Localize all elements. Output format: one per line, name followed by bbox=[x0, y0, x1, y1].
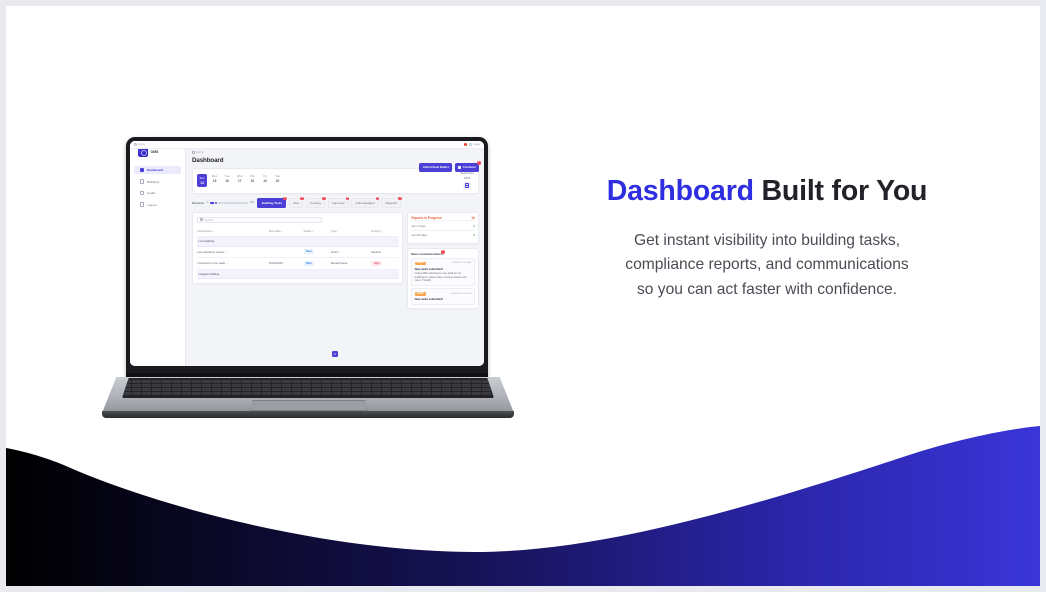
search-input[interactable]: Search bbox=[197, 217, 322, 224]
browser-back-group[interactable]: Home bbox=[134, 143, 145, 146]
chevron-down-icon[interactable]: ⌄ bbox=[394, 272, 396, 276]
day-cell-fri[interactable]: Fri 19 bbox=[260, 174, 270, 187]
group-cell: Lan building ⌃ bbox=[197, 236, 399, 246]
message-time: 09/09/2025 16:42PM bbox=[451, 293, 471, 295]
tasks-table: Description▾ Due Date▾ Status▾ Type Prio… bbox=[197, 227, 399, 279]
chevron-down-icon: ▾ bbox=[381, 230, 382, 233]
status-badge: New bbox=[304, 249, 315, 254]
bottom-wave bbox=[6, 426, 1040, 586]
sidebar-item-label: Logout bbox=[147, 203, 156, 207]
day-cell-wed[interactable]: Wed 17 bbox=[235, 174, 245, 187]
communications-panel: New communications 2 AUDIT 10/09/2025 10… bbox=[407, 248, 479, 309]
panel-title-label: New communications bbox=[411, 252, 443, 256]
pill-badge: 1 bbox=[398, 197, 402, 201]
calendar-icon bbox=[465, 183, 470, 188]
cta-label: Trashcan bbox=[463, 165, 476, 169]
pill-approved[interactable]: Approved 8 bbox=[328, 198, 349, 208]
day-cell-sat[interactable]: Sat 20 bbox=[273, 174, 283, 187]
column-label: Priority bbox=[371, 229, 380, 233]
cta-badge: 1 bbox=[477, 161, 481, 165]
day-number: 16 bbox=[222, 179, 232, 183]
priority-label: Medium bbox=[371, 250, 381, 254]
day-name: Sat bbox=[273, 174, 283, 178]
breadcrumb[interactable]: Home bbox=[192, 151, 479, 154]
subcopy-line-1: Get instant visibility into building tas… bbox=[566, 229, 968, 253]
dashboard-app: Home usage bbox=[130, 141, 484, 366]
day-name: Thu bbox=[247, 174, 257, 178]
building-icon bbox=[140, 179, 144, 183]
column-label: Status bbox=[304, 229, 312, 233]
cell-priority: High bbox=[370, 258, 398, 270]
day-number: 20 bbox=[273, 179, 283, 183]
search-icon bbox=[200, 218, 203, 221]
pill-new[interactable]: New 4 bbox=[289, 198, 304, 208]
logout-icon bbox=[140, 202, 144, 206]
pill-rejected[interactable]: Rejected 1 bbox=[381, 198, 401, 208]
chevron-up-icon[interactable]: ⌃ bbox=[394, 239, 396, 243]
message-header: AUDIT 09/09/2025 16:42PM bbox=[415, 292, 472, 296]
browser-back-label: Home bbox=[138, 143, 145, 146]
app-sidebar: OMS Dashboard Buildings bbox=[130, 141, 186, 366]
back-arrow-icon[interactable] bbox=[134, 143, 137, 146]
cell-type: Action bbox=[330, 246, 371, 258]
grid-icon bbox=[140, 168, 144, 172]
day-cell-sun[interactable]: Sun 14 bbox=[197, 174, 207, 187]
sidebar-item-label: Dashboard bbox=[147, 168, 163, 172]
pill-badge: 4 bbox=[300, 197, 304, 201]
pill-badge: 3 bbox=[322, 197, 326, 201]
trashcan-button[interactable]: Trashcan 1 bbox=[455, 163, 479, 172]
table-row[interactable]: new diagrams require ... - New Action Me… bbox=[197, 246, 399, 258]
cell-due-date: - bbox=[268, 246, 303, 258]
headline-accent: Dashboard bbox=[607, 175, 754, 207]
cell-description: comments to be made ... bbox=[197, 258, 268, 270]
reports-row-30days: next 30 days 5 bbox=[411, 230, 475, 240]
reports-row-7days: next 7 days 3 bbox=[411, 220, 475, 230]
slider-max: 365 bbox=[250, 201, 254, 204]
sidebar-item-logout[interactable]: Logout bbox=[134, 201, 181, 209]
pill-building-tasks[interactable]: Building Tasks 12 bbox=[257, 198, 286, 208]
headline-rest: Built for You bbox=[754, 175, 927, 207]
trash-icon bbox=[458, 166, 461, 170]
reports-panel: Reports in Progress 10 next 7 days 3 nex… bbox=[407, 212, 479, 244]
cell-priority: Medium bbox=[370, 246, 398, 258]
slider-handle[interactable] bbox=[214, 201, 218, 205]
day-cell-tue[interactable]: Tue 16 bbox=[222, 174, 232, 187]
table-group-row[interactable]: Lan building ⌃ bbox=[197, 236, 399, 246]
message-time: 10/09/2025 10:14AM bbox=[451, 262, 471, 264]
message-tag: AUDIT bbox=[415, 292, 426, 296]
column-type[interactable]: Type bbox=[330, 227, 371, 236]
zoom-icon bbox=[469, 143, 472, 146]
table-group-row[interactable]: craigies building ⌄ bbox=[197, 269, 399, 279]
laptop-screen: Home usage bbox=[130, 141, 484, 366]
group-label: Lan building bbox=[199, 239, 215, 243]
laptop-mockup: Home usage bbox=[102, 137, 514, 419]
laptop-foot bbox=[102, 411, 514, 418]
notification-dot-icon[interactable] bbox=[464, 143, 467, 146]
chevron-down-icon: ▾ bbox=[212, 230, 213, 233]
pill-badge: 8 bbox=[346, 197, 350, 201]
laptop-keyboard bbox=[122, 378, 494, 398]
subcopy-line-2: compliance reports, and communications bbox=[566, 253, 968, 277]
column-priority[interactable]: Priority▾ bbox=[370, 227, 398, 236]
home-icon bbox=[192, 151, 195, 154]
search-placeholder: Search bbox=[204, 218, 213, 222]
page-headline: Dashboard Built for You bbox=[566, 174, 968, 208]
year-label: 2025 bbox=[464, 177, 470, 180]
brand-name: OMS bbox=[151, 150, 159, 154]
cell-status: New bbox=[303, 246, 330, 258]
pill-acknowledged[interactable]: Acknowledged 2 bbox=[351, 198, 379, 208]
zoom-indicator[interactable]: usage bbox=[469, 143, 480, 146]
comms-badge: 2 bbox=[441, 250, 445, 254]
chevron-down-icon: ▾ bbox=[281, 230, 282, 233]
message-card[interactable]: AUDIT 09/09/2025 16:42PM New audit submi… bbox=[411, 288, 475, 304]
app-main: Home Dashboard Sun 14 Mon bbox=[186, 141, 484, 366]
day-number: 17 bbox=[235, 179, 245, 183]
services-slider[interactable]: Services 0 365 bbox=[192, 201, 254, 205]
group-label: craigies building bbox=[199, 272, 220, 276]
day-number: 19 bbox=[260, 179, 270, 183]
day-name: Tue bbox=[222, 174, 232, 178]
pill-label: New bbox=[293, 201, 299, 205]
column-label: Due Date bbox=[269, 229, 281, 233]
status-pills: Building Tasks 12 New 4 Pending 3 bbox=[257, 198, 401, 208]
day-number: 18 bbox=[247, 179, 257, 183]
reports-panel-title: Reports in Progress bbox=[411, 216, 441, 220]
row-value: 5 bbox=[473, 233, 475, 237]
cell-description: new diagrams require ... bbox=[197, 246, 268, 258]
page-button-1[interactable]: 1 bbox=[332, 351, 338, 357]
message-header: AUDIT 10/09/2025 10:14AM bbox=[415, 262, 472, 266]
pill-label: Approved bbox=[332, 201, 344, 205]
pill-pending[interactable]: Pending 3 bbox=[306, 198, 325, 208]
cell-status: New bbox=[303, 258, 330, 270]
calendar-button[interactable] bbox=[463, 182, 471, 190]
chevron-down-icon: ▾ bbox=[312, 230, 313, 233]
slider-label: Services bbox=[192, 201, 204, 205]
zoom-label: usage bbox=[473, 143, 480, 146]
content-row: Search Description▾ Due Date▾ Status▾ bbox=[192, 212, 479, 309]
sidebar-item-label: Buildings bbox=[147, 180, 160, 184]
cta-row: Add Critical Defect Trashcan 1 bbox=[419, 163, 479, 172]
tasks-table-card: Search Description▾ Due Date▾ Status▾ bbox=[192, 212, 403, 284]
browser-toolbar: Home usage bbox=[130, 141, 484, 149]
cta-label: Add Critical Defect bbox=[423, 165, 449, 169]
message-tag: AUDIT bbox=[415, 262, 426, 266]
hero-subcopy: Get instant visibility into building tas… bbox=[566, 229, 968, 301]
subcopy-line-3: so you can act faster with confidence. bbox=[566, 278, 968, 302]
day-cell-mon[interactable]: Mon 15 bbox=[210, 174, 220, 187]
day-cell-thu[interactable]: Thu 18 bbox=[247, 174, 257, 187]
column-label: Type bbox=[331, 229, 337, 233]
column-label: Description bbox=[198, 229, 212, 233]
laptop-lid: Home usage bbox=[126, 137, 488, 377]
reports-panel-count: 10 bbox=[471, 216, 475, 220]
sidebar-item-audits[interactable]: Audits bbox=[134, 189, 181, 197]
pill-badge: 12 bbox=[283, 197, 287, 201]
pagination: 1 bbox=[186, 351, 484, 357]
month-picker[interactable]: September 2025 bbox=[460, 172, 474, 190]
day-number: 15 bbox=[210, 179, 220, 183]
day-list: Sun 14 Mon 15 Tue 16 bbox=[197, 174, 283, 187]
landing-page-canvas: Home usage bbox=[6, 6, 1040, 586]
row-value: 3 bbox=[473, 224, 475, 228]
column-status[interactable]: Status▾ bbox=[303, 227, 330, 236]
slider-track[interactable] bbox=[210, 202, 248, 203]
cell-type: Repair/Quote bbox=[330, 258, 371, 270]
laptop-trackpad bbox=[250, 400, 368, 411]
priority-badge: High bbox=[371, 261, 382, 266]
cell-due-date: 10/04/2025 bbox=[268, 258, 303, 270]
pill-label: Acknowledged bbox=[356, 201, 375, 205]
clipboard-icon bbox=[140, 191, 144, 195]
right-panels: Reports in Progress 10 next 7 days 3 nex… bbox=[407, 212, 479, 309]
message-title: New audit submitted! bbox=[415, 267, 472, 271]
sidebar-item-label: Audits bbox=[147, 191, 156, 195]
pill-label: Rejected bbox=[386, 201, 397, 205]
communications-panel-title: New communications 2 bbox=[411, 252, 443, 256]
day-name: Fri bbox=[260, 174, 270, 178]
table-header-row: Description▾ Due Date▾ Status▾ Type Prio… bbox=[197, 227, 399, 236]
day-name: Sun bbox=[197, 176, 207, 180]
slider-min: 0 bbox=[206, 201, 208, 204]
table-row[interactable]: comments to be made ... 10/04/2025 New R… bbox=[197, 258, 399, 270]
message-title: New audit submitted! bbox=[415, 297, 472, 301]
pill-label: Pending bbox=[310, 201, 321, 205]
day-name: Wed bbox=[235, 174, 245, 178]
row-label: next 30 days bbox=[411, 233, 427, 237]
month-label: September bbox=[460, 172, 474, 175]
day-name: Mon bbox=[210, 174, 220, 178]
browser-right-group: usage bbox=[464, 143, 480, 146]
sidebar-item-dashboard[interactable]: Dashboard bbox=[134, 166, 181, 174]
wave-svg bbox=[6, 426, 1040, 586]
column-description[interactable]: Description▾ bbox=[197, 227, 268, 236]
row-label: next 7 days bbox=[411, 224, 425, 228]
group-cell: craigies building ⌄ bbox=[197, 269, 399, 279]
breadcrumb-label: Home bbox=[196, 151, 203, 154]
add-critical-defect-button[interactable]: Add Critical Defect bbox=[419, 163, 452, 172]
column-due-date[interactable]: Due Date▾ bbox=[268, 227, 303, 236]
message-card[interactable]: AUDIT 10/09/2025 10:14AM New audit submi… bbox=[411, 258, 475, 286]
status-badge: New bbox=[304, 261, 315, 266]
hero-copy: Dashboard Built for You Get instant visi… bbox=[566, 174, 968, 302]
day-number: 14 bbox=[197, 181, 207, 185]
message-body: Craigs Mills submitted a new audit for o… bbox=[415, 272, 472, 282]
pill-label: Building Tasks bbox=[262, 201, 282, 205]
filter-bar: Services 0 365 Building Tasks bbox=[192, 198, 479, 208]
sidebar-item-buildings[interactable]: Buildings bbox=[134, 178, 181, 186]
pill-badge: 2 bbox=[376, 197, 380, 201]
wave-shape bbox=[6, 426, 1040, 586]
sidebar-nav: Dashboard Buildings Audits bbox=[130, 166, 185, 209]
